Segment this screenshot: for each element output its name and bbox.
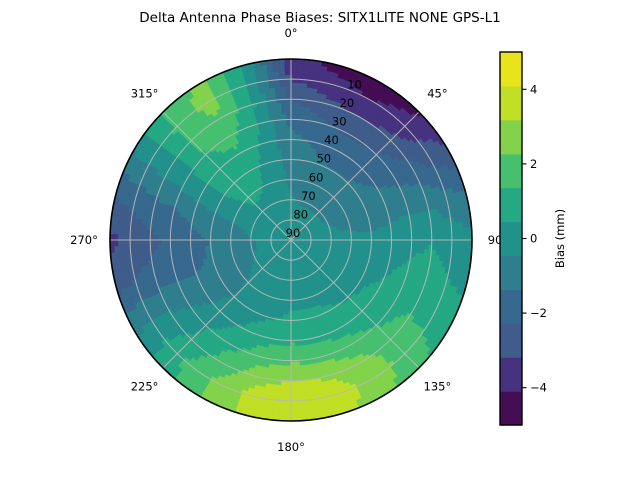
azimuth-tick-label: 315° bbox=[131, 87, 159, 101]
radial-tick-label: 40 bbox=[324, 133, 339, 147]
colorbar-tick-label: 4 bbox=[530, 82, 537, 96]
page-title: Delta Antenna Phase Biases: SITX1LITE NO… bbox=[139, 10, 500, 26]
colorbar-tick-label: 2 bbox=[530, 157, 537, 171]
radial-tick-label: 50 bbox=[316, 152, 331, 166]
radial-tick-label: 10 bbox=[347, 77, 362, 91]
azimuth-tick-label: 180° bbox=[277, 440, 305, 454]
azimuth-tick-label: 270° bbox=[70, 233, 98, 247]
colorbar-swatches bbox=[500, 52, 522, 426]
radial-tick-label: 20 bbox=[340, 96, 355, 110]
colorbar-axis-title: Bias (mm) bbox=[553, 209, 567, 268]
radial-tick-label: 90 bbox=[286, 226, 301, 240]
polar-contour-figure: Delta Antenna Phase Biases: SITX1LITE NO… bbox=[0, 0, 640, 480]
colorbar-tick-label: −4 bbox=[530, 381, 547, 395]
radial-tick-label: 30 bbox=[332, 115, 347, 129]
radial-tick-label: 70 bbox=[301, 189, 316, 203]
azimuth-tick-label: 0° bbox=[284, 26, 297, 40]
radial-tick-label: 60 bbox=[309, 170, 324, 184]
polar-grid bbox=[110, 59, 472, 421]
radial-tick-label: 80 bbox=[293, 207, 308, 221]
azimuth-tick-label: 135° bbox=[424, 379, 452, 393]
colorbar-tick-label: 0 bbox=[530, 232, 537, 246]
azimuth-tick-label: 225° bbox=[131, 379, 159, 393]
colorbar-tick-label: −2 bbox=[530, 306, 547, 320]
azimuth-tick-label: 45° bbox=[427, 87, 447, 101]
